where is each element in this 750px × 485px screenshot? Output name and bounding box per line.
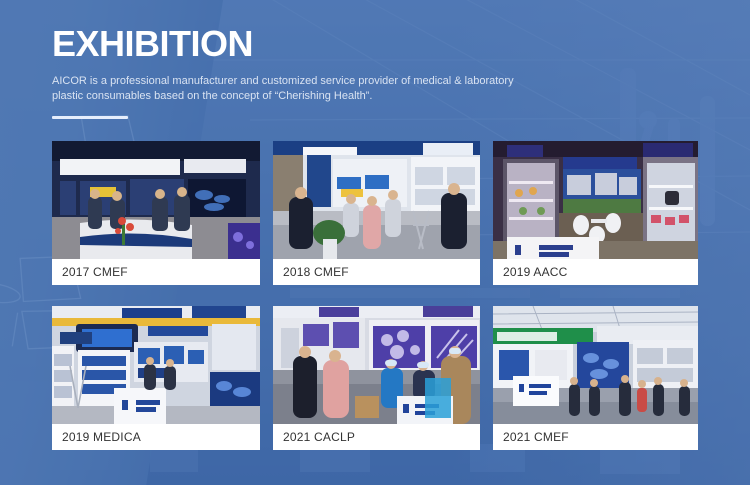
- exhibition-photo-2019-medica: [52, 306, 260, 424]
- exhibition-photo-2021-cmef: [493, 306, 698, 424]
- gallery-caption-text: 2019 MEDICA: [62, 431, 141, 443]
- exhibition-photo-2019-aacc: [493, 141, 698, 259]
- gallery-card-caption: 2018 CMEF: [273, 259, 480, 285]
- gallery-caption-text: 2021 CMEF: [503, 431, 569, 443]
- gallery-card-caption: 2021 CMEF: [493, 424, 698, 450]
- gallery-caption-text: 2021 CACLP: [283, 431, 355, 443]
- exhibition-photo-2018-cmef: [273, 141, 480, 259]
- section-header: EXHIBITION AICOR is a professional manuf…: [52, 24, 612, 119]
- exhibition-photo-2017-cmef: [52, 141, 260, 259]
- gallery-caption-text: 2018 CMEF: [283, 266, 349, 278]
- gallery-card-caption: 2019 MEDICA: [52, 424, 260, 450]
- gallery-card-caption: 2021 CACLP: [273, 424, 480, 450]
- gallery-card[interactable]: 2021 CMEF: [493, 306, 698, 450]
- page-subtitle: AICOR is a professional manufacturer and…: [52, 74, 522, 104]
- gallery-card[interactable]: 2018 CMEF: [273, 141, 480, 285]
- gallery-card[interactable]: 2017 CMEF: [52, 141, 260, 285]
- gallery-card[interactable]: 2021 CACLP: [273, 306, 480, 450]
- gallery-card[interactable]: 2019 AACC: [493, 141, 698, 285]
- gallery-card[interactable]: 2019 MEDICA: [52, 306, 260, 450]
- exhibition-photo-2021-caclp: [273, 306, 480, 424]
- page-title: EXHIBITION: [52, 24, 612, 64]
- gallery-caption-text: 2017 CMEF: [62, 266, 128, 278]
- gallery-card-caption: 2017 CMEF: [52, 259, 260, 285]
- exhibition-gallery-grid: 2017 CMEF: [52, 141, 698, 450]
- gallery-caption-text: 2019 AACC: [503, 266, 568, 278]
- gallery-card-caption: 2019 AACC: [493, 259, 698, 285]
- title-underline-rule: [52, 116, 128, 119]
